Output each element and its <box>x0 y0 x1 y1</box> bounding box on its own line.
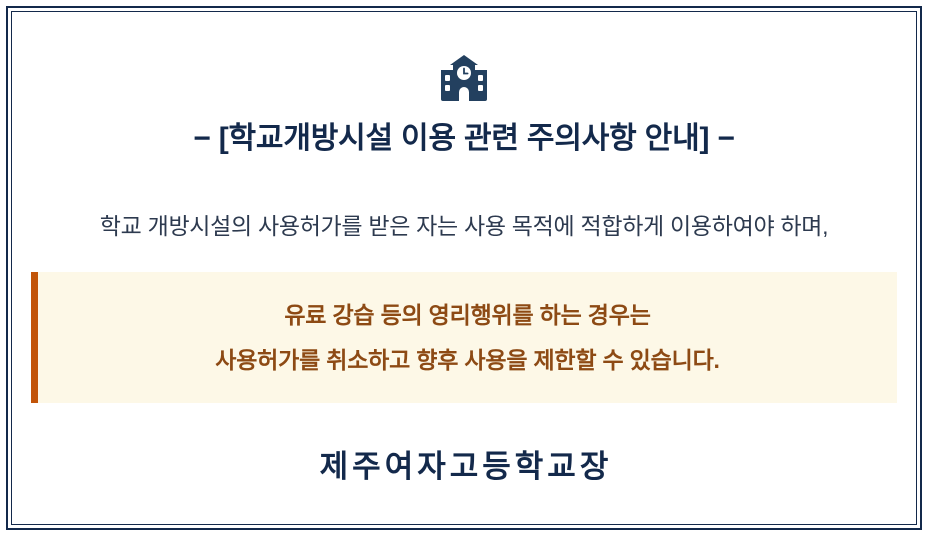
notice-paragraph: 학교 개방시설의 사용허가를 받은 자는 사용 목적에 적합하게 이용하여야 하… <box>0 207 928 241</box>
callout-line-2: 사용허가를 취소하고 향후 사용을 제한할 수 있습니다. <box>215 349 719 372</box>
issuer-signature: 제주여자고등학교장 <box>0 441 928 486</box>
warning-callout-box: 유료 강습 등의 영리행위를 하는 경우는 사용허가를 취소하고 향후 사용을 … <box>31 272 897 403</box>
notice-content: − [학교개방시설 이용 관련 주의사항 안내] − 학교 개방시설의 사용허가… <box>0 0 928 536</box>
notice-canvas: − [학교개방시설 이용 관련 주의사항 안내] − 학교 개방시설의 사용허가… <box>0 0 928 536</box>
callout-line-1: 유료 강습 등의 영리행위를 하는 경우는 <box>284 304 650 327</box>
school-building-clock-icon <box>0 52 928 104</box>
page-title: − [학교개방시설 이용 관련 주의사항 안내] − <box>0 113 928 157</box>
